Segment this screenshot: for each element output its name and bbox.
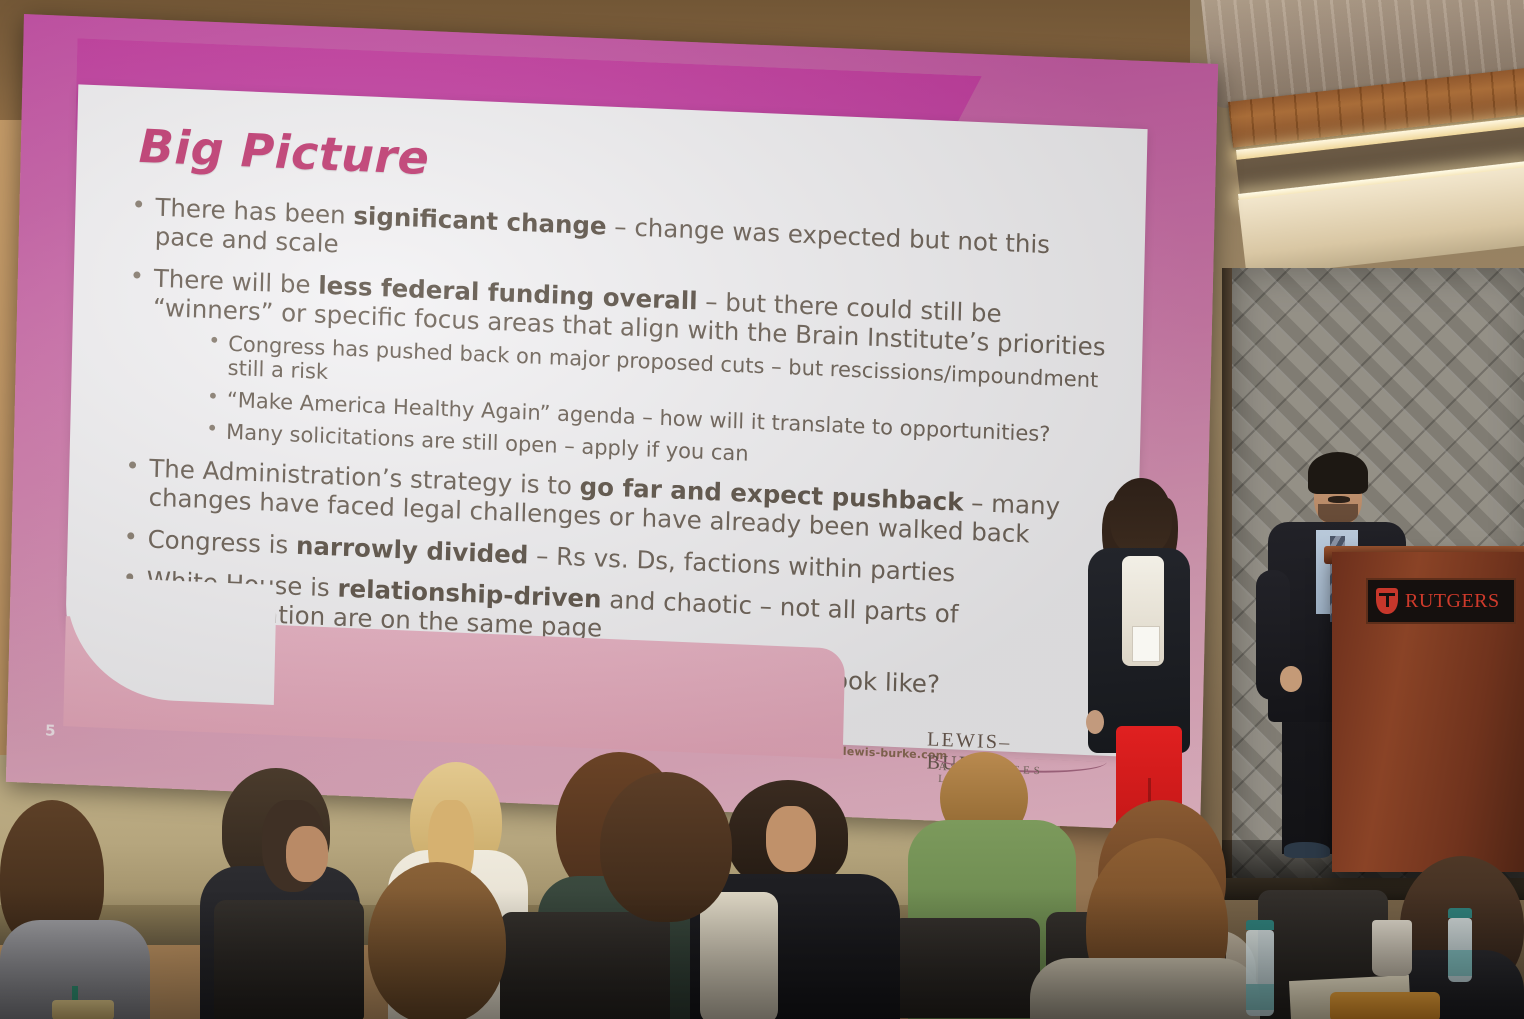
podium-brand-plate: RUTGERS xyxy=(1366,578,1516,624)
slide-surface: Big Picture There has been significant c… xyxy=(6,14,1218,832)
water-bottle xyxy=(1448,918,1472,982)
presenter-hair xyxy=(1110,478,1172,556)
projection-screen: Big Picture There has been significant c… xyxy=(5,14,1253,855)
audience-chair xyxy=(214,900,364,1019)
bullet-text-bold: narrowly divided xyxy=(296,530,529,569)
bullet-text-plain: – Rs vs. Ds, factions within parties xyxy=(528,540,955,587)
bullet-text-bold: significant change xyxy=(353,201,607,241)
cup xyxy=(52,1000,114,1019)
rutgers-shield-icon xyxy=(1376,588,1398,614)
audience-chair xyxy=(890,918,1040,1018)
presentation-room-photo: Big Picture There has been significant c… xyxy=(0,0,1524,1019)
audience-chair xyxy=(500,912,670,1019)
bullet-text-plain: Congress is xyxy=(147,524,296,559)
standing-presenter xyxy=(1078,478,1198,858)
snack-plate xyxy=(1330,992,1440,1019)
bullet-item: There will be less federal funding overa… xyxy=(120,263,1109,481)
rutgers-wordmark: RUTGERS xyxy=(1405,590,1500,613)
slide-number: 5 xyxy=(45,721,56,739)
water-bottle xyxy=(1246,930,1274,1016)
name-badge xyxy=(1132,626,1160,662)
speaker-hair xyxy=(1308,452,1368,494)
cup xyxy=(1372,920,1412,976)
